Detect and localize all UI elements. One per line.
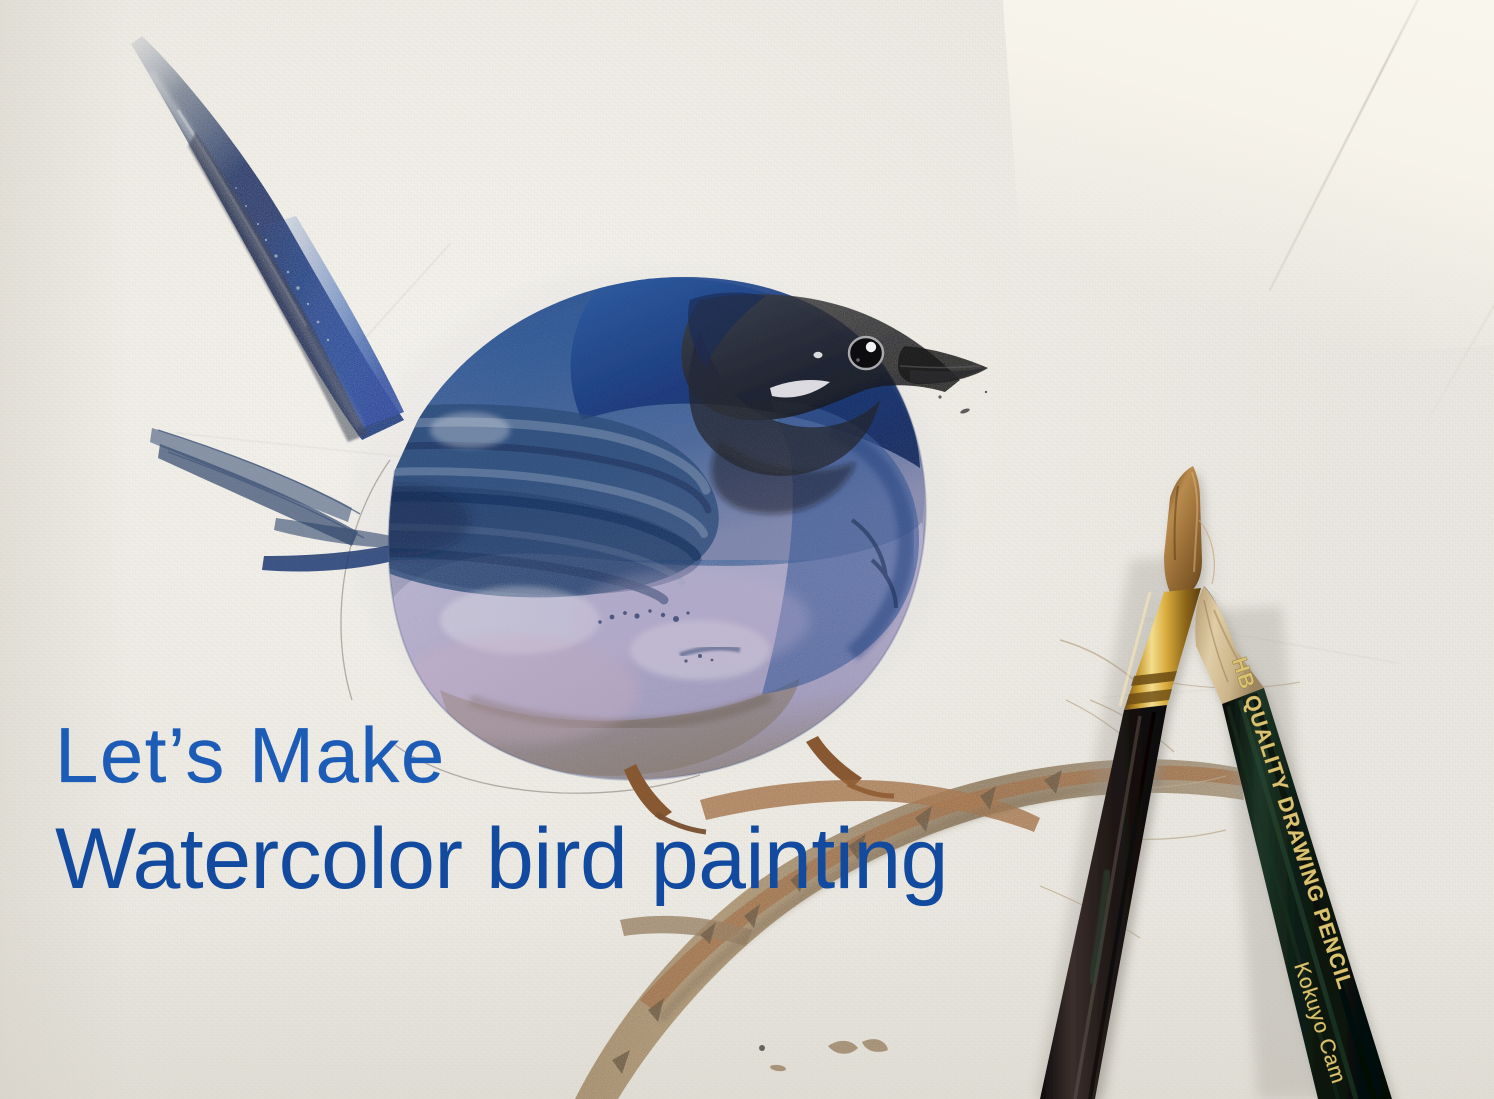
title-line-1: Let’s Make: [55, 716, 948, 794]
title-line-2: Watercolor bird painting: [55, 816, 948, 902]
title-block: Let’s Make Watercolor bird painting: [55, 716, 948, 902]
screenshot-root: HB QUALITY DRAWING PENCIL Kokuyo Cam Let…: [0, 0, 1494, 1099]
art-tools-group: HB QUALITY DRAWING PENCIL Kokuyo Cam: [0, 0, 1494, 1099]
paintbrush: [1040, 466, 1214, 1099]
